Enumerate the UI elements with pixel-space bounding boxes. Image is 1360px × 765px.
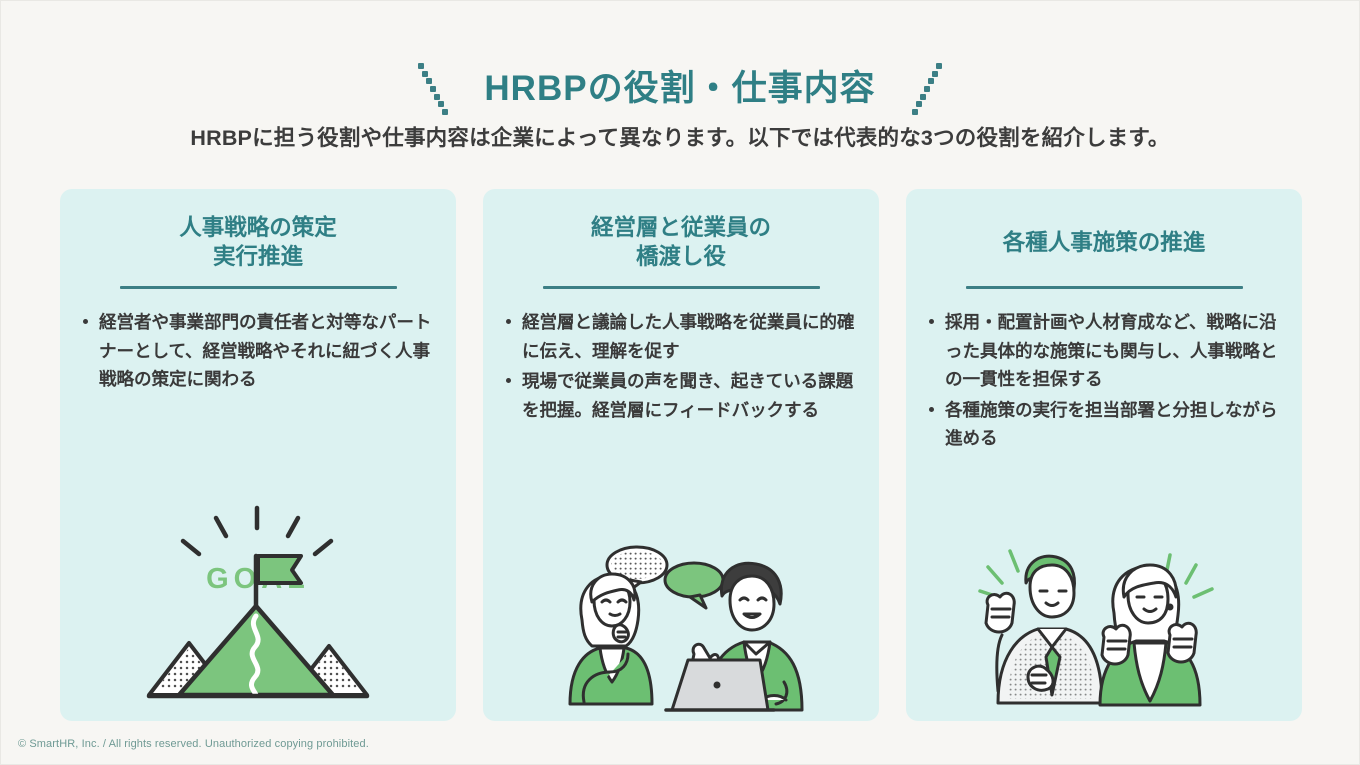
slide-header: HRBPの役割・仕事内容 HRBPに担う役割や仕事内容は企業によって異なります。… <box>1 1 1359 176</box>
goal-mountain-flag-illustration: GOAL <box>60 498 456 713</box>
card-title-line: 実行推進 <box>213 243 303 272</box>
card-bullet-list: 経営者や事業部門の責任者と対等なパートナーとして、経営戦略やそれに紐づく人事戦略… <box>80 308 438 394</box>
card-title-line: 人事戦略の策定 <box>179 214 337 243</box>
list-item: 経営者や事業部門の責任者と対等なパートナーとして、経営戦略やそれに紐づく人事戦略… <box>80 308 438 394</box>
card-title: 経営層と従業員の 橋渡し役 <box>503 212 859 274</box>
slide-root: HRBPの役割・仕事内容 HRBPに担う役割や仕事内容は企業によって異なります。… <box>0 0 1360 765</box>
footer-copyright: © SmartHR, Inc. / All rights reserved. U… <box>18 738 369 750</box>
title-row: HRBPの役割・仕事内容 <box>1 59 1359 117</box>
card-title: 人事戦略の策定 実行推進 <box>80 212 436 274</box>
card-title-divider <box>543 286 820 289</box>
two-people-discussion-laptop-illustration <box>483 542 879 717</box>
card-title: 各種人事施策の推進 <box>926 212 1282 274</box>
page-title: HRBPの役割・仕事内容 <box>484 71 875 106</box>
list-item: 現場で従業員の声を聞き、起きている課題を把握。経営層にフィードバックする <box>503 367 861 424</box>
page-subtitle: HRBPに担う役割や仕事内容は企業によって異なります。以下では代表的な3つの役割… <box>1 121 1359 152</box>
card-bullet-list: 経営層と議論した人事戦略を従業員に的確に伝え、理解を促す 現場で従業員の声を聞き… <box>503 308 861 424</box>
card-title-line: 橋渡し役 <box>636 243 726 272</box>
card-title-line: 経営層と従業員の <box>591 214 771 243</box>
card-title-divider <box>966 286 1243 289</box>
card-bullet-list: 採用・配置計画や人材育成など、戦略に沿った具体的な施策にも関与し、人事戦略との一… <box>926 308 1284 453</box>
list-item: 各種施策の実行を担当部署と分担しながら進める <box>926 396 1284 453</box>
role-card: 経営層と従業員の 橋渡し役 経営層と議論した人事戦略を従業員に的確に伝え、理解を… <box>483 189 879 721</box>
role-card: 人事戦略の策定 実行推進 経営者や事業部門の責任者と対等なパートナーとして、経営… <box>60 189 456 721</box>
list-item: 採用・配置計画や人材育成など、戦略に沿った具体的な施策にも関与し、人事戦略との一… <box>926 308 1284 394</box>
two-people-cheering-illustration <box>906 543 1302 711</box>
card-title-divider <box>120 286 397 289</box>
card-list: 人事戦略の策定 実行推進 経営者や事業部門の責任者と対等なパートナーとして、経営… <box>60 189 1302 721</box>
dotted-diagonal-line-icon <box>416 59 450 117</box>
dotted-diagonal-line-icon <box>910 59 944 117</box>
role-card: 各種人事施策の推進 採用・配置計画や人材育成など、戦略に沿った具体的な施策にも関… <box>906 189 1302 721</box>
list-item: 経営層と議論した人事戦略を従業員に的確に伝え、理解を促す <box>503 308 861 365</box>
card-title-line: 各種人事施策の推進 <box>1003 229 1206 258</box>
